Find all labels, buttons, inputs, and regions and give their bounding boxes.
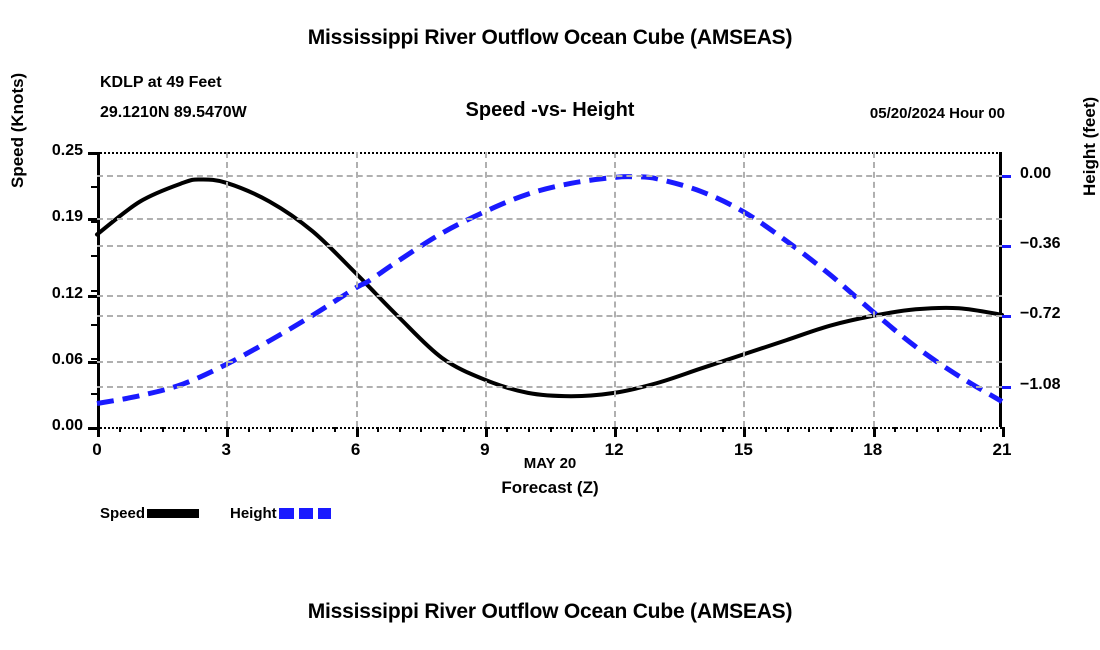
y-gridline-left <box>97 295 1002 297</box>
x-minor-tick <box>463 427 465 432</box>
y-tick-left <box>88 361 97 364</box>
x-minor-tick <box>506 427 508 432</box>
x-minor-tick <box>787 427 789 432</box>
chart-canvas: Mississippi River Outflow Ocean Cube (AM… <box>0 0 1100 650</box>
x-minor-tick <box>722 427 724 432</box>
x-axis-date-label: MAY 20 <box>0 455 1100 472</box>
x-minor-tick <box>894 427 896 432</box>
x-minor-tick <box>679 427 681 432</box>
x-minor-tick <box>334 427 336 432</box>
y-tick-left <box>88 152 97 155</box>
x-axis-title: Forecast (Z) <box>0 478 1100 498</box>
x-minor-tick <box>183 427 185 432</box>
page-title: Mississippi River Outflow Ocean Cube (AM… <box>0 26 1100 50</box>
x-tick <box>226 427 229 437</box>
legend-label-height: Height <box>230 505 277 522</box>
x-minor-tick <box>571 427 573 432</box>
y-tick-right <box>1002 386 1011 389</box>
y-minor-tick-left <box>91 290 97 292</box>
x-minor-tick <box>528 427 530 432</box>
y-tick-right <box>1002 245 1011 248</box>
y-gridline-right <box>97 175 1002 177</box>
y-gridline-right <box>97 315 1002 317</box>
x-minor-tick <box>119 427 121 432</box>
x-minor-tick <box>442 427 444 432</box>
station-name-label: KDLP at 49 Feet <box>100 74 222 92</box>
y-tick-label-left: 0.06 <box>13 351 83 369</box>
y-minor-tick-left <box>91 393 97 395</box>
x-minor-tick <box>980 427 982 432</box>
x-tick <box>1002 427 1005 437</box>
x-minor-tick <box>657 427 659 432</box>
y-tick-right <box>1002 315 1011 318</box>
x-minor-tick <box>550 427 552 432</box>
y-tick-label-left: 0.25 <box>13 142 83 160</box>
x-minor-tick <box>808 427 810 432</box>
y-minor-tick-left <box>91 255 97 257</box>
x-tick <box>485 427 488 437</box>
x-tick <box>614 427 617 437</box>
y-minor-tick-left <box>91 324 97 326</box>
x-minor-tick <box>248 427 250 432</box>
x-tick <box>97 427 100 437</box>
y-gridline-left <box>97 218 1002 220</box>
legend-item-height: Height <box>230 505 331 522</box>
x-minor-tick <box>593 427 595 432</box>
y-tick-label-right: 0.00 <box>1020 165 1100 183</box>
x-minor-tick <box>636 427 638 432</box>
x-minor-tick <box>312 427 314 432</box>
y-tick-label-left: 0.19 <box>13 208 83 226</box>
y-minor-tick-left <box>91 358 97 360</box>
x-minor-tick <box>700 427 702 432</box>
footer-title: Mississippi River Outflow Ocean Cube (AM… <box>0 600 1100 624</box>
legend-swatch-height-icon <box>279 508 331 519</box>
y-tick-label-left: 0.00 <box>13 417 83 435</box>
y-axis-left-title: Speed (Knots) <box>8 73 28 188</box>
y-tick-label-left: 0.12 <box>13 285 83 303</box>
series-line-height <box>97 177 1002 404</box>
x-minor-tick <box>851 427 853 432</box>
y-gridline-left <box>97 361 1002 363</box>
y-tick-label-right: −0.36 <box>1020 235 1100 253</box>
x-minor-tick <box>420 427 422 432</box>
x-minor-tick <box>140 427 142 432</box>
x-minor-tick <box>205 427 207 432</box>
x-minor-tick <box>959 427 961 432</box>
x-minor-tick <box>937 427 939 432</box>
y-tick-left <box>88 427 97 430</box>
x-tick <box>873 427 876 437</box>
x-minor-tick <box>399 427 401 432</box>
x-minor-tick <box>269 427 271 432</box>
legend-item-speed: Speed <box>100 505 199 522</box>
y-tick-left <box>88 295 97 298</box>
x-tick <box>743 427 746 437</box>
plot-area: 0369121518210.000.060.120.190.250.00−0.3… <box>97 152 1002 427</box>
y-gridline-right <box>97 245 1002 247</box>
model-run-timestamp: 05/20/2024 Hour 00 <box>870 105 1005 122</box>
x-minor-tick <box>162 427 164 432</box>
x-minor-tick <box>377 427 379 432</box>
legend-swatch-speed-icon <box>147 509 199 518</box>
x-minor-tick <box>916 427 918 432</box>
y-minor-tick-left <box>91 186 97 188</box>
legend-label-speed: Speed <box>100 505 145 522</box>
y-tick-label-right: −0.72 <box>1020 305 1100 323</box>
x-tick <box>356 427 359 437</box>
y-gridline-right <box>97 386 1002 388</box>
y-tick-label-right: −1.08 <box>1020 376 1100 394</box>
y-tick-right <box>1002 175 1011 178</box>
x-minor-tick <box>291 427 293 432</box>
x-minor-tick <box>830 427 832 432</box>
x-minor-tick <box>765 427 767 432</box>
y-minor-tick-left <box>91 221 97 223</box>
